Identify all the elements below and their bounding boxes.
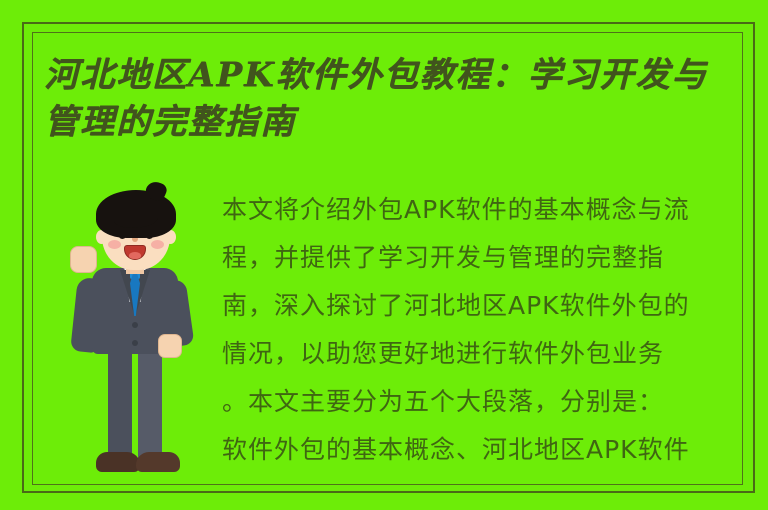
poster-body-text: 本文将介绍外包APK软件的基本概念与流 程，并提供了学习开发与管理的完整指 南，…	[222, 186, 742, 476]
body-line-1: 本文将介绍外包APK软件的基本概念与流	[222, 186, 742, 234]
jacket-button-1	[132, 322, 138, 328]
jacket-button-2	[132, 340, 138, 346]
raised-fist	[70, 246, 97, 273]
left-shoe	[96, 452, 140, 472]
tongue	[129, 252, 141, 259]
businessman-illustration	[62, 182, 222, 482]
body-line-4: 情况，以助您更好地进行软件外包业务	[222, 330, 742, 378]
body-line-5: 。本文主要分为五个大段落，分别是：	[222, 378, 742, 426]
poster-title: 河北地区APK软件外包教程：学习开发与 管理的完整指南	[44, 52, 744, 146]
hip-hand	[158, 334, 182, 358]
right-cheek-blush	[151, 240, 164, 249]
title-line-1: 河北地区APK软件外包教程：学习开发与	[44, 52, 744, 99]
left-cheek-blush	[108, 240, 121, 249]
title-line-2: 管理的完整指南	[44, 99, 744, 146]
body-line-6: 软件外包的基本概念、河北地区APK软件	[222, 426, 742, 474]
poster-canvas: 河北地区APK软件外包教程：学习开发与 管理的完整指南	[0, 0, 768, 510]
right-shoe	[136, 452, 180, 472]
body-line-3: 南，深入探讨了河北地区APK软件外包的	[222, 282, 742, 330]
body-line-2: 程，并提供了学习开发与管理的完整指	[222, 234, 742, 282]
